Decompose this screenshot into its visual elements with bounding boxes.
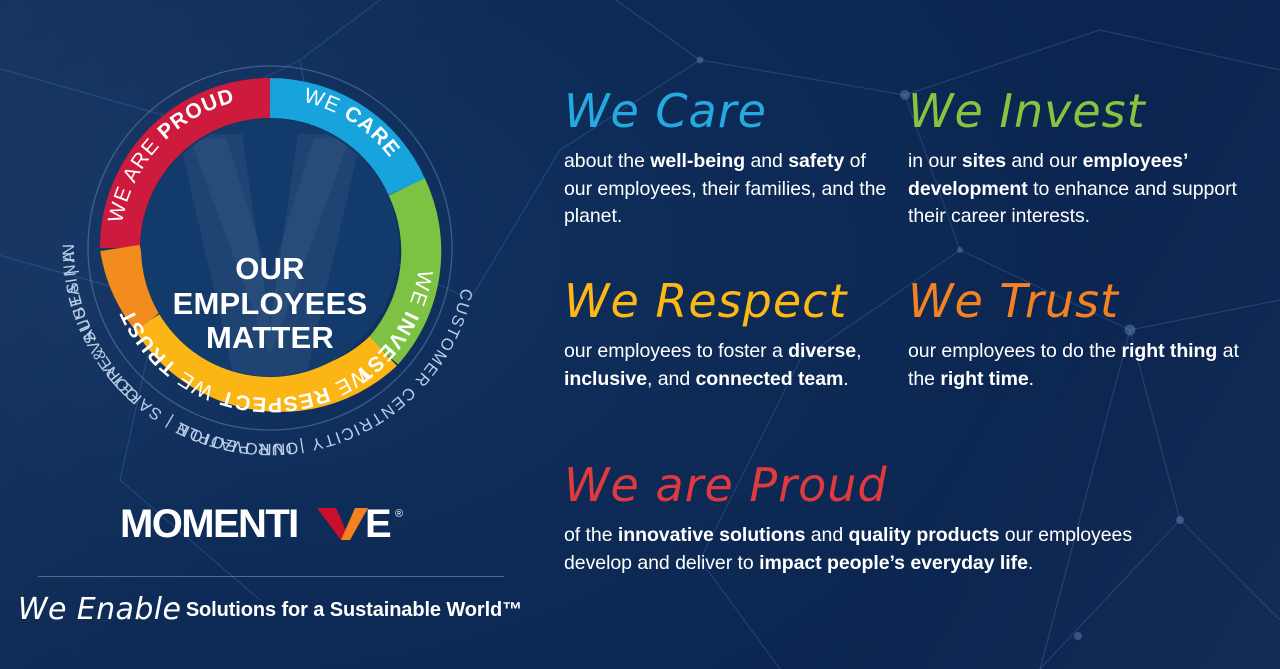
logo-wordmark-right: E: [365, 502, 391, 546]
value-block-care: We Care about the well-being and safety …: [564, 88, 894, 231]
center-line-2: EMPLOYEES: [140, 287, 400, 322]
value-heading-trust: We Trust: [908, 278, 1248, 324]
center-line-3: MATTER: [140, 321, 400, 356]
core-values-wheel: CORE VALUES | INTEGRITY | CUSTOMER CENTR…: [28, 56, 512, 480]
tagline-script: We Enable: [18, 592, 181, 627]
value-body-proud: of the innovative solutions and quality …: [564, 522, 1254, 577]
value-block-trust: We Trust our employees to do the right t…: [908, 278, 1248, 393]
value-block-invest: We Invest in our sites and our employees…: [908, 88, 1248, 231]
wheel-center-text: OUR EMPLOYEES MATTER: [140, 252, 400, 356]
value-heading-respect: We Respect: [564, 278, 894, 324]
value-heading-invest: We Invest: [908, 88, 1248, 134]
logo-v-mark: [317, 508, 368, 540]
logo-registered-mark: ®: [395, 508, 403, 520]
momentive-logo: MOMENTI E ®: [120, 502, 420, 548]
logo-block: MOMENTI E ®: [0, 502, 540, 553]
center-line-1: OUR: [140, 252, 400, 287]
value-block-respect: We Respect our employees to foster a div…: [564, 278, 894, 393]
tagline-bold: Solutions for a Sustainable World™: [186, 599, 522, 621]
value-heading-care: We Care: [564, 88, 894, 134]
tagline: We Enable Solutions for a Sustainable Wo…: [0, 592, 540, 627]
logo-divider: [38, 576, 504, 577]
value-heading-proud: We are Proud: [564, 462, 1254, 508]
values-panel: We Care about the well-being and safety …: [556, 0, 1280, 669]
value-body-trust: our employees to do the right thing at t…: [908, 338, 1248, 393]
logo-svg: MOMENTI E ®: [120, 502, 420, 548]
value-body-respect: our employees to foster a diverse, inclu…: [564, 338, 894, 393]
logo-wordmark-left: MOMENTI: [120, 502, 298, 546]
left-panel: CORE VALUES | INTEGRITY | CUSTOMER CENTR…: [0, 0, 540, 669]
value-body-invest: in our sites and our employees’ developm…: [908, 148, 1248, 231]
value-body-care: about the well-being and safety of our e…: [564, 148, 894, 231]
value-block-proud: We are Proud of the innovative solutions…: [564, 462, 1254, 577]
